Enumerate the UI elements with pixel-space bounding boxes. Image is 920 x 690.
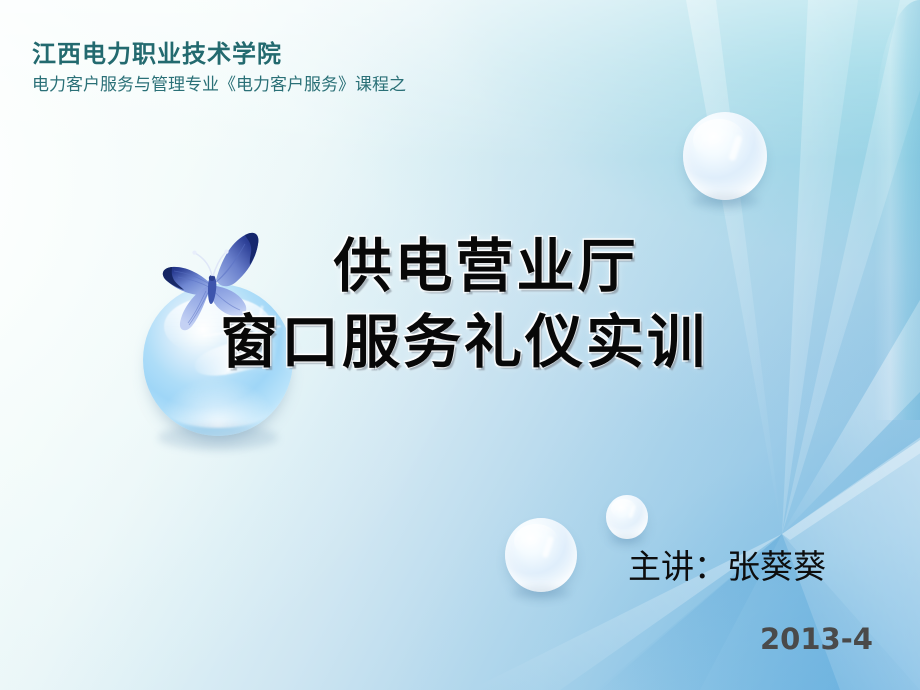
bubble-lower-mid — [505, 518, 577, 592]
header-block: 江西电力职业技术学院 电力客户服务与管理专业《电力客户服务》课程之 — [32, 40, 406, 96]
course-subtitle: 电力客户服务与管理专业《电力客户服务》课程之 — [32, 75, 406, 96]
butterfly-antenna-tip-right — [224, 250, 228, 254]
organization-name: 江西电力职业技术学院 — [32, 40, 406, 69]
bubble-top-right — [683, 112, 767, 200]
sphere-shadow — [158, 425, 278, 449]
sphere-bottom-glow — [158, 377, 278, 429]
bubble-shadow — [691, 194, 758, 208]
right-edge-streak — [874, 0, 920, 420]
bubble-shadow — [512, 587, 570, 599]
presentation-slide: 江西电力职业技术学院 电力客户服务与管理专业《电力客户服务》课程之 供电营业厅 … — [0, 0, 920, 690]
date-label: 2013-4 — [760, 622, 873, 656]
presenter-label: 主讲：张葵葵 — [628, 540, 826, 588]
bubble-small-right — [606, 495, 648, 539]
butterfly-icon — [150, 228, 278, 338]
butterfly-antenna-tip-left — [192, 251, 196, 255]
